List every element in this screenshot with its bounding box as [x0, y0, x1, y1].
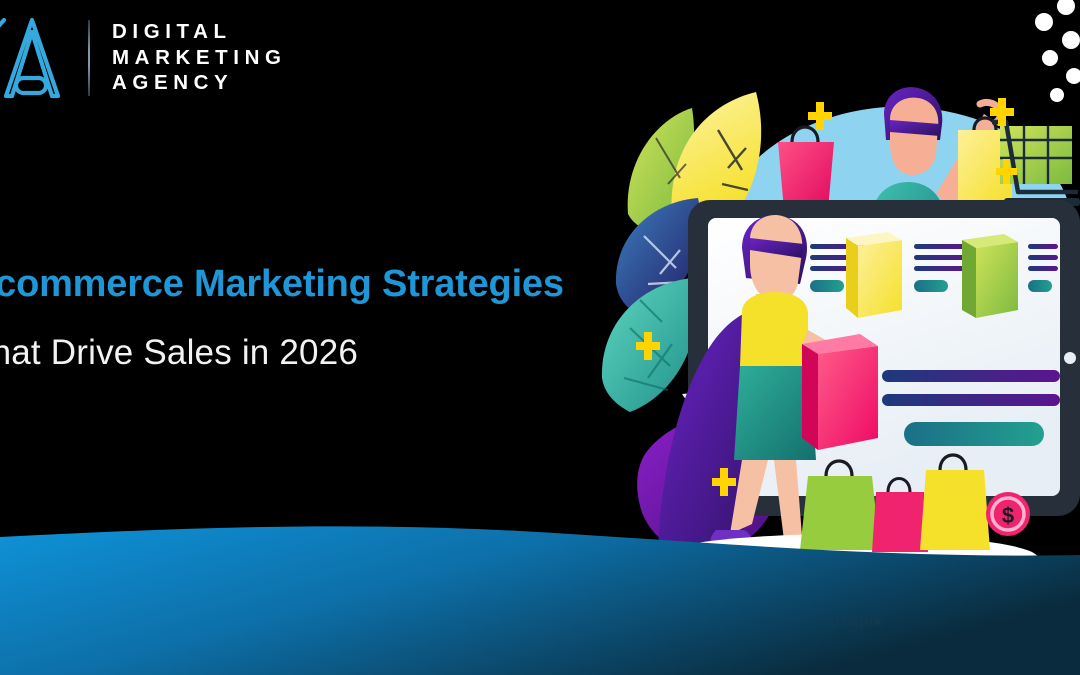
headline-secondary: That Drive Sales in 2026: [0, 332, 670, 374]
decorative-dot: [1057, 0, 1075, 15]
ka-monogram-icon: [0, 8, 74, 108]
freepik-label: freepik: [830, 613, 882, 630]
product-card-green: [962, 234, 1018, 318]
decorative-dot: [1042, 50, 1058, 66]
freepik-mark-icon: ✦: [812, 613, 823, 629]
slide-canvas: DIGITAL MARKETING AGENCY Ecommerce Marke…: [0, 0, 1080, 675]
ecommerce-shopping-illustration: $: [596, 78, 1080, 583]
headline-primary: Ecommerce Marketing Strategies: [0, 262, 670, 308]
brand-line-1: DIGITAL: [112, 22, 287, 43]
headline-block: Ecommerce Marketing Strategies That Driv…: [0, 262, 670, 374]
pink-package-box: [802, 334, 878, 450]
bottom-wave-decoration: [0, 515, 1080, 675]
freepik-watermark: ✦ freepik: [812, 610, 1002, 632]
brand-logo[interactable]: DIGITAL MARKETING AGENCY: [0, 8, 287, 108]
decorative-dot: [1062, 31, 1080, 49]
logo-divider: [88, 20, 90, 96]
decorative-dot: [1035, 13, 1053, 31]
brand-line-2: MARKETING: [112, 48, 287, 69]
brand-line-3: AGENCY: [112, 73, 287, 94]
product-card-yellow: [846, 232, 902, 318]
brand-wordmark: DIGITAL MARKETING AGENCY: [112, 22, 287, 94]
